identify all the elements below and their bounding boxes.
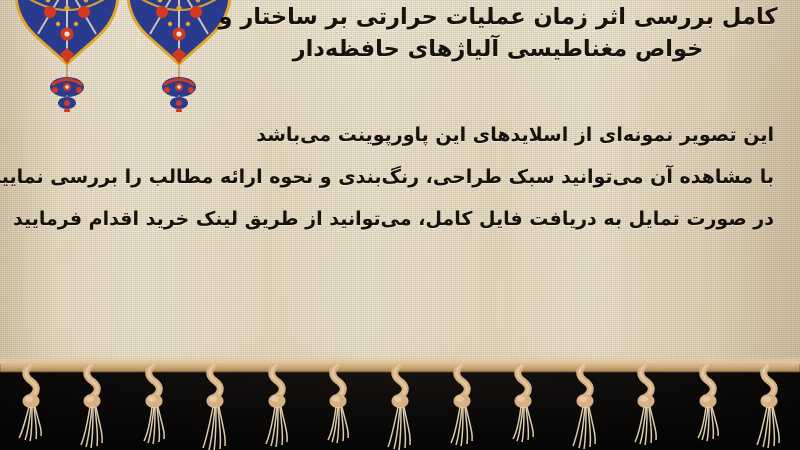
fringe-tassel [137, 364, 171, 450]
fringe-tassel [198, 364, 232, 450]
slide-title-line-2: خواص مغناطیسی آلیاژهای حافظه‌دار [218, 34, 778, 66]
slide-title-line-1: کامل بررسی اثر زمان عملیات حرارتی بر ساخ… [218, 2, 778, 34]
persian-carpet-medallion-icon [8, 0, 126, 116]
fringe-tassel [752, 364, 786, 450]
fringe-tassel [383, 364, 417, 450]
fringe-tassel [691, 364, 725, 450]
slide-body: این تصویر نمونه‌ای از اسلایدهای این پاور… [26, 114, 774, 240]
fringe-tassel [14, 364, 48, 450]
fringe-tassel [568, 364, 602, 450]
slide-body-line-2: با مشاهده آن می‌توانید سبک طراحی، رنگ‌بن… [26, 156, 774, 198]
slide-canvas: کامل بررسی اثر زمان عملیات حرارتی بر ساخ… [0, 0, 800, 450]
slide-body-line-3: در صورت تمایل به دریافت فایل کامل، می‌تو… [26, 198, 774, 240]
fringe-tassel [321, 364, 355, 450]
slide-body-line-1: این تصویر نمونه‌ای از اسلایدهای این پاور… [26, 114, 774, 156]
fringe-tassel [506, 364, 540, 450]
fringe-tassel [629, 364, 663, 450]
fringe-tassel [260, 364, 294, 450]
fringe-tassel [75, 364, 109, 450]
slide-title: کامل بررسی اثر زمان عملیات حرارتی بر ساخ… [218, 2, 778, 66]
fringe-tassel [445, 364, 479, 450]
